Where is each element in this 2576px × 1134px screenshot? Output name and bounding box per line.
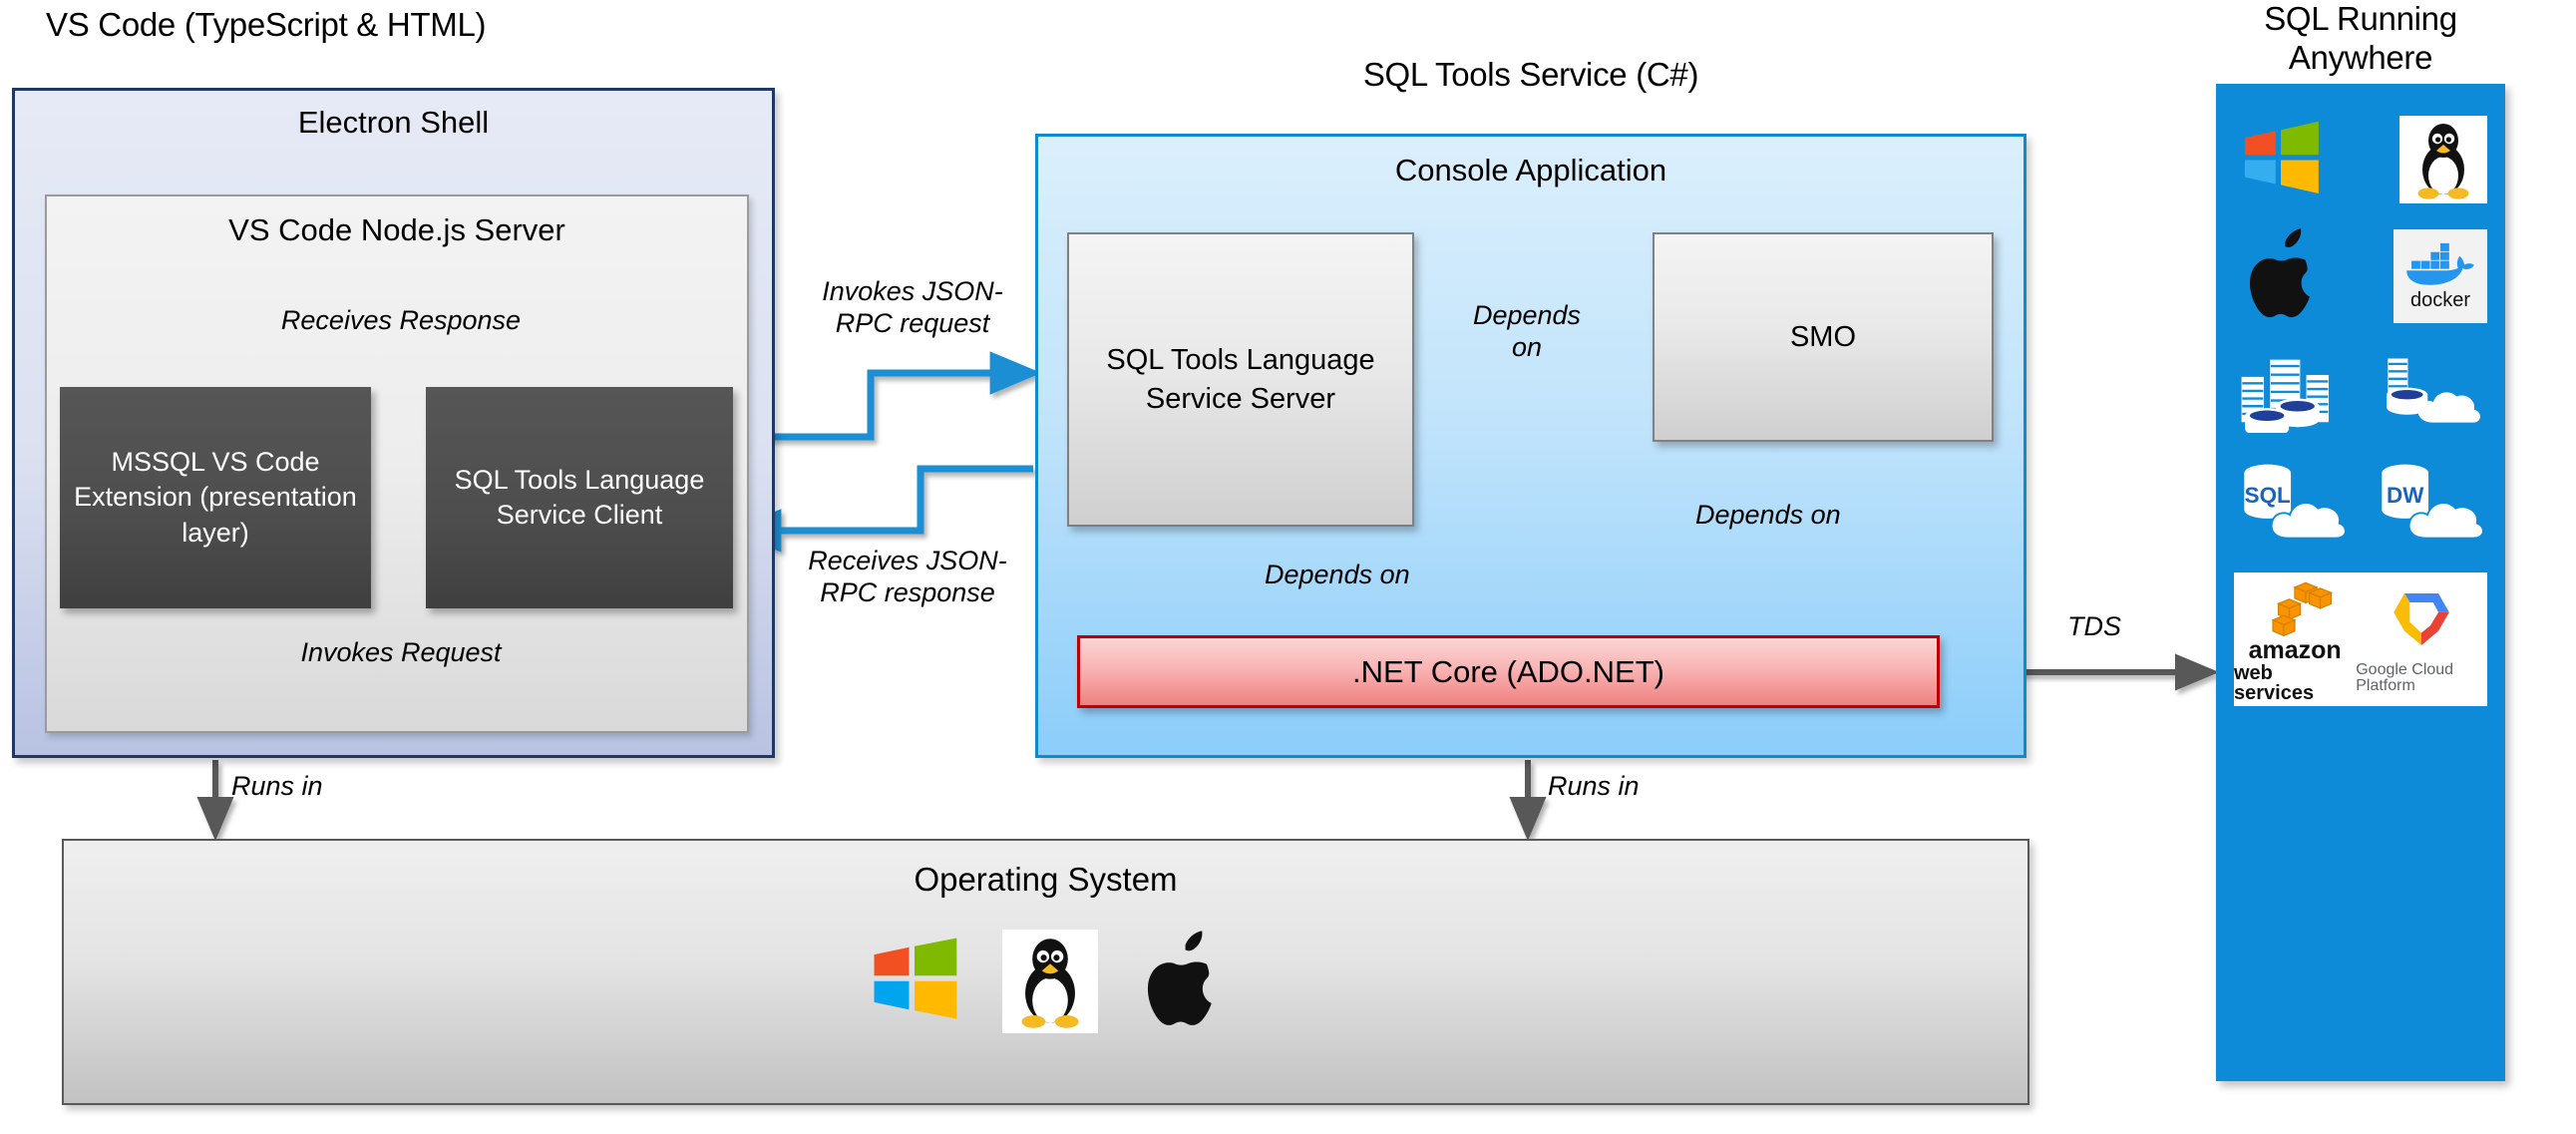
- sql-server-on-prem-icon: [2234, 347, 2350, 438]
- caption-vscode: VS Code (TypeScript & HTML): [12, 6, 690, 45]
- google-cloud-platform-icon: Google Cloud Platform: [2356, 572, 2487, 706]
- sql-tools-language-service-server-label: SQL Tools Language Service Server: [1069, 341, 1412, 418]
- sql-anywhere-row-4: SQL DW: [2234, 460, 2487, 551]
- azure-sql-db-icon: SQL: [2234, 460, 2350, 551]
- operating-system-title: Operating System: [64, 861, 2027, 899]
- operating-system-container: Operating System: [62, 839, 2029, 1105]
- edge-label-smo-dotnet-depends-on: Depends on: [1695, 499, 1945, 531]
- sql-label: SQL: [2245, 483, 2291, 508]
- amazon-web-services-label: web services: [2234, 663, 2356, 703]
- dw-label: DW: [2387, 483, 2424, 508]
- edge-label-receives-response: Receives Response: [231, 304, 570, 336]
- sql-running-anywhere-panel: docker: [2216, 84, 2505, 1081]
- caption-sql-running-anywhere: SQL Running Anywhere: [2216, 0, 2505, 78]
- console-application-title: Console Application: [1038, 153, 2024, 189]
- edge-label-lsp-depends-on: Depends on: [1265, 559, 1514, 590]
- docker-label: docker: [2410, 289, 2470, 312]
- amazon-label: amazon: [2249, 638, 2342, 663]
- docker-icon: docker: [2393, 229, 2487, 323]
- linux-tux-icon: [2399, 116, 2487, 203]
- edge-label-runs-in-service: Runs in: [1548, 770, 1727, 802]
- sql-db-cloud-icon: [2376, 347, 2487, 438]
- dotnet-core-adonet-box[interactable]: .NET Core (ADO.NET): [1077, 635, 1940, 708]
- edge-label-smo-depends-on: Depends on: [1432, 299, 1622, 364]
- sql-anywhere-row-1: [2234, 114, 2487, 204]
- edge-label-tds: TDS: [2024, 610, 2164, 642]
- sql-tools-language-service-server-box[interactable]: SQL Tools Language Service Server: [1067, 232, 1414, 527]
- sql-tools-language-service-client-label: SQL Tools Language Service Client: [432, 463, 727, 533]
- sql-anywhere-row-5: amazon web services Google Cloud Platfor…: [2234, 572, 2487, 706]
- sql-anywhere-row-3: [2234, 347, 2487, 438]
- edge-label-receives-json-rpc-response: Receives JSON-RPC response: [788, 545, 1027, 609]
- apple-icon: [2234, 226, 2322, 325]
- sql-anywhere-row-2: docker: [2234, 226, 2487, 325]
- windows-icon: [2234, 114, 2324, 204]
- amazon-web-services-icon: amazon web services: [2234, 572, 2356, 706]
- edge-label-invokes-request: Invokes Request: [231, 636, 570, 668]
- mssql-vscode-extension-label: MSSQL VS Code Extension (presentation la…: [66, 445, 365, 550]
- mssql-vscode-extension-box[interactable]: MSSQL VS Code Extension (presentation la…: [60, 387, 371, 608]
- vscode-nodejs-server-title: VS Code Node.js Server: [47, 212, 747, 248]
- smo-box[interactable]: SMO: [1653, 232, 1994, 442]
- google-cloud-platform-label: Google Cloud Platform: [2356, 662, 2487, 694]
- operating-system-icon-row: [64, 929, 2027, 1033]
- sql-tools-language-service-client-box[interactable]: SQL Tools Language Service Client: [426, 387, 733, 608]
- edge-label-invokes-json-rpc-request: Invokes JSON-RPC request: [798, 275, 1027, 340]
- apple-icon: [1140, 929, 1224, 1033]
- linux-tux-icon: [1002, 930, 1098, 1033]
- windows-icon: [869, 933, 960, 1029]
- azure-sql-dw-icon: DW: [2372, 460, 2487, 551]
- dotnet-core-adonet-label: .NET Core (ADO.NET): [1352, 654, 1664, 690]
- caption-sql-tools-service: SQL Tools Service (C#): [1035, 56, 2026, 95]
- edge-label-runs-in-vscode: Runs in: [231, 770, 411, 802]
- smo-label: SMO: [1790, 318, 1856, 356]
- electron-shell-title: Electron Shell: [15, 105, 772, 141]
